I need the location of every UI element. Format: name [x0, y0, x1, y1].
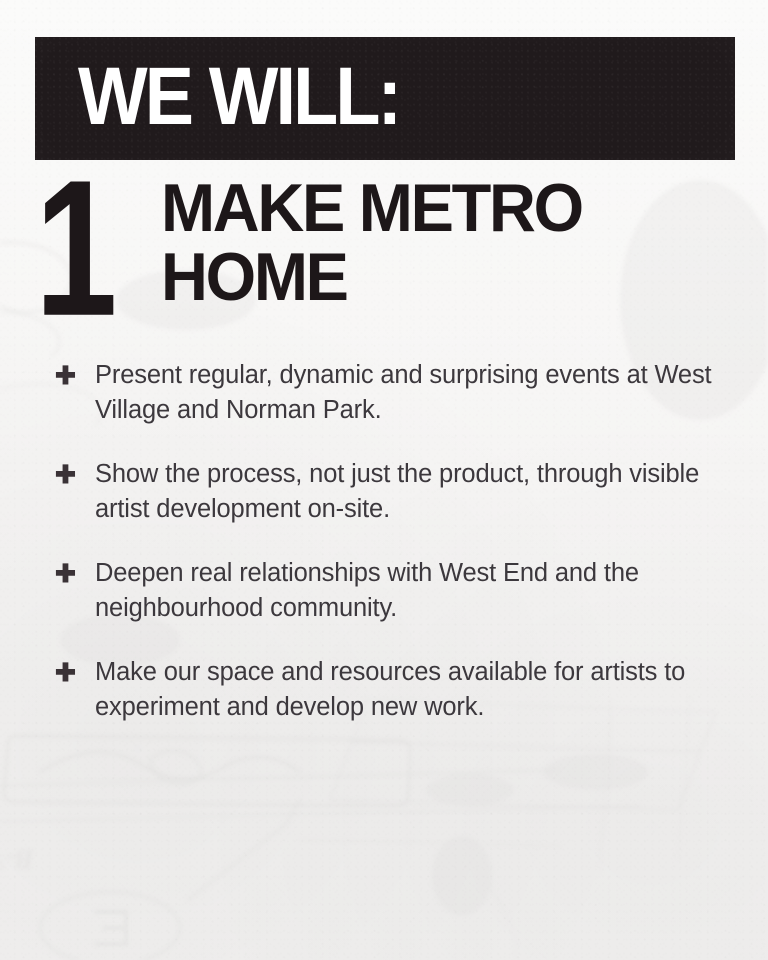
list-item: ✚ Present regular, dynamic and surprisin… — [55, 358, 735, 428]
headline-number: 1 — [35, 172, 113, 325]
bullet-list: ✚ Present regular, dynamic and surprisin… — [55, 358, 735, 754]
list-item-text: Make our space and resources available f… — [95, 655, 720, 725]
list-item: ✚ Deepen real relationships with West En… — [55, 556, 735, 626]
headline-text: MAKE METRO HOME — [161, 174, 582, 312]
list-item-text: Show the process, not just the product, … — [95, 457, 720, 527]
header-bar: WE WILL: — [35, 37, 735, 160]
list-item-text: Deepen real relationships with West End … — [95, 556, 720, 626]
plus-icon: ✚ — [55, 457, 95, 492]
headline-line-2: HOME — [161, 243, 582, 312]
list-item: ✚ Make our space and resources available… — [55, 655, 735, 725]
headline-line-1: MAKE METRO — [161, 174, 582, 243]
plus-icon: ✚ — [55, 358, 95, 393]
plus-icon: ✚ — [55, 655, 95, 690]
plus-icon: ✚ — [55, 556, 95, 591]
svg-text:B-W: B-W — [0, 843, 35, 874]
list-item-text: Present regular, dynamic and surprising … — [95, 358, 720, 428]
poster-page: B-W WE WILL: 1 MAKE METR — [0, 0, 768, 960]
list-item: ✚ Show the process, not just the product… — [55, 457, 735, 527]
page-title: WE WILL: — [78, 53, 399, 141]
headline-block: 1 MAKE METRO HOME — [35, 170, 735, 330]
